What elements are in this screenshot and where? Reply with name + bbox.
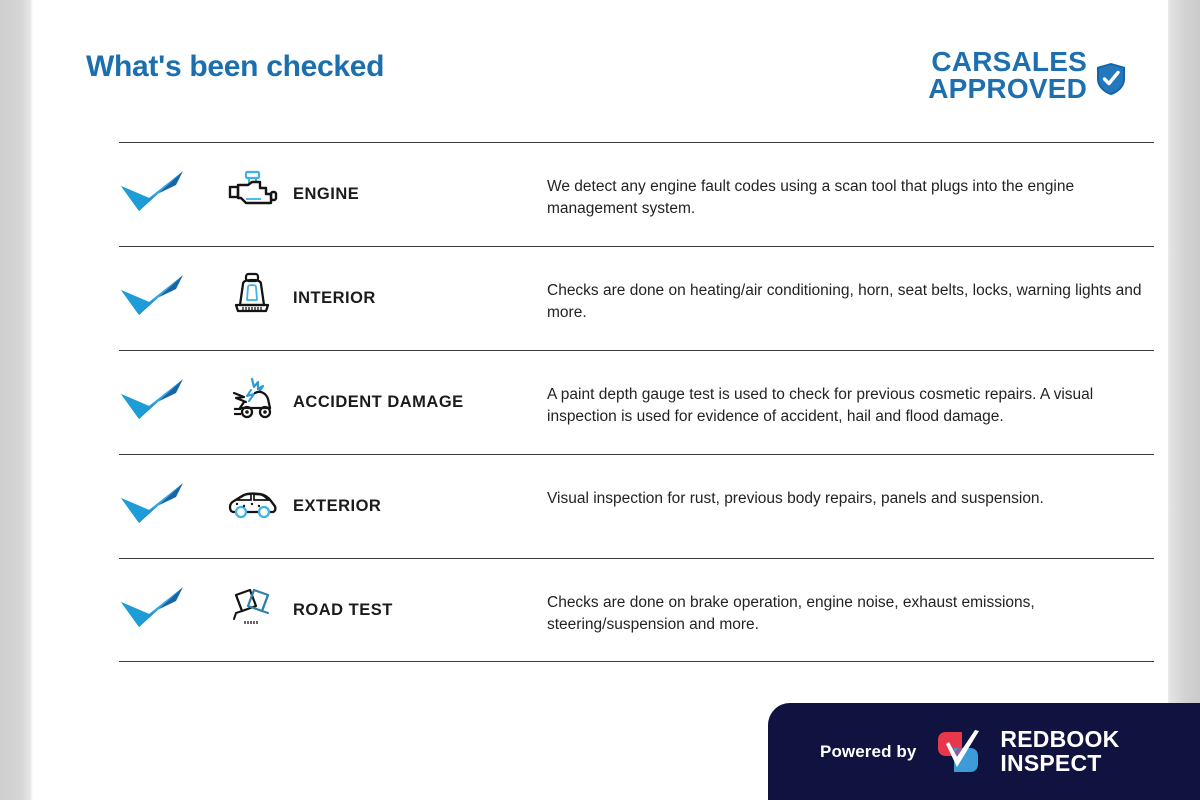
engine-icon <box>224 163 280 219</box>
category-label: ACCIDENT DAMAGE <box>293 351 547 412</box>
powered-by-redbook-badge: Powered by REDBOOK INSPECT <box>768 703 1200 800</box>
carsales-approved-wordmark: CARSALES APPROVED <box>928 48 1087 103</box>
category-label: EXTERIOR <box>293 455 547 516</box>
blue-check-swoosh-icon <box>119 481 185 527</box>
check-cell <box>119 351 211 423</box>
category-description: Checks are done on heating/air condition… <box>547 247 1154 324</box>
car-seat-icon <box>224 267 280 323</box>
blue-check-swoosh-icon <box>119 273 185 319</box>
category-icon-cell <box>211 559 293 635</box>
check-cell <box>119 143 211 215</box>
page-title: What's been checked <box>86 50 384 84</box>
category-label: INTERIOR <box>293 247 547 308</box>
page-header: What's been checked CARSALES APPROVED <box>86 40 1126 120</box>
car-crash-icon <box>224 371 280 427</box>
category-description: A paint depth gauge test is used to chec… <box>547 351 1154 428</box>
brand-line-2: APPROVED <box>928 75 1087 102</box>
brand-line-1: CARSALES <box>928 48 1087 75</box>
car-side-icon <box>224 475 280 531</box>
table-row: ACCIDENT DAMAGE A paint depth gauge test… <box>119 350 1154 454</box>
category-icon-cell <box>211 247 293 323</box>
category-description: Checks are done on brake operation, engi… <box>547 559 1154 636</box>
category-label: ENGINE <box>293 143 547 204</box>
category-description: Visual inspection for rust, previous bod… <box>547 455 1154 510</box>
category-icon-cell <box>211 143 293 219</box>
blue-check-swoosh-icon <box>119 377 185 423</box>
redbook-line-2: INSPECT <box>1000 752 1119 776</box>
table-row: ENGINE We detect any engine fault codes … <box>119 142 1154 246</box>
blue-check-swoosh-icon <box>119 585 185 631</box>
checkered-flags-icon <box>224 579 280 635</box>
powered-by-label: Powered by <box>820 742 916 762</box>
category-description: We detect any engine fault codes using a… <box>547 143 1154 220</box>
check-cell <box>119 559 211 631</box>
carsales-approved-logo: CARSALES APPROVED <box>928 48 1126 103</box>
redbook-line-1: REDBOOK <box>1000 728 1119 752</box>
table-row: ROAD TEST Checks are done on brake opera… <box>119 558 1154 662</box>
category-label: ROAD TEST <box>293 559 547 620</box>
shield-check-icon <box>1096 62 1126 96</box>
document-page: What's been checked CARSALES APPROVED <box>33 0 1168 800</box>
table-row: EXTERIOR Visual inspection for rust, pre… <box>119 454 1154 558</box>
inspection-checklist: ENGINE We detect any engine fault codes … <box>119 142 1154 662</box>
category-icon-cell <box>211 351 293 427</box>
check-cell <box>119 247 211 319</box>
blue-check-swoosh-icon <box>119 169 185 215</box>
redbook-inspect-wordmark: REDBOOK INSPECT <box>1000 728 1119 775</box>
category-icon-cell <box>211 455 293 531</box>
redbook-check-logo-icon <box>932 726 984 778</box>
table-row: INTERIOR Checks are done on heating/air … <box>119 246 1154 350</box>
check-cell <box>119 455 211 527</box>
